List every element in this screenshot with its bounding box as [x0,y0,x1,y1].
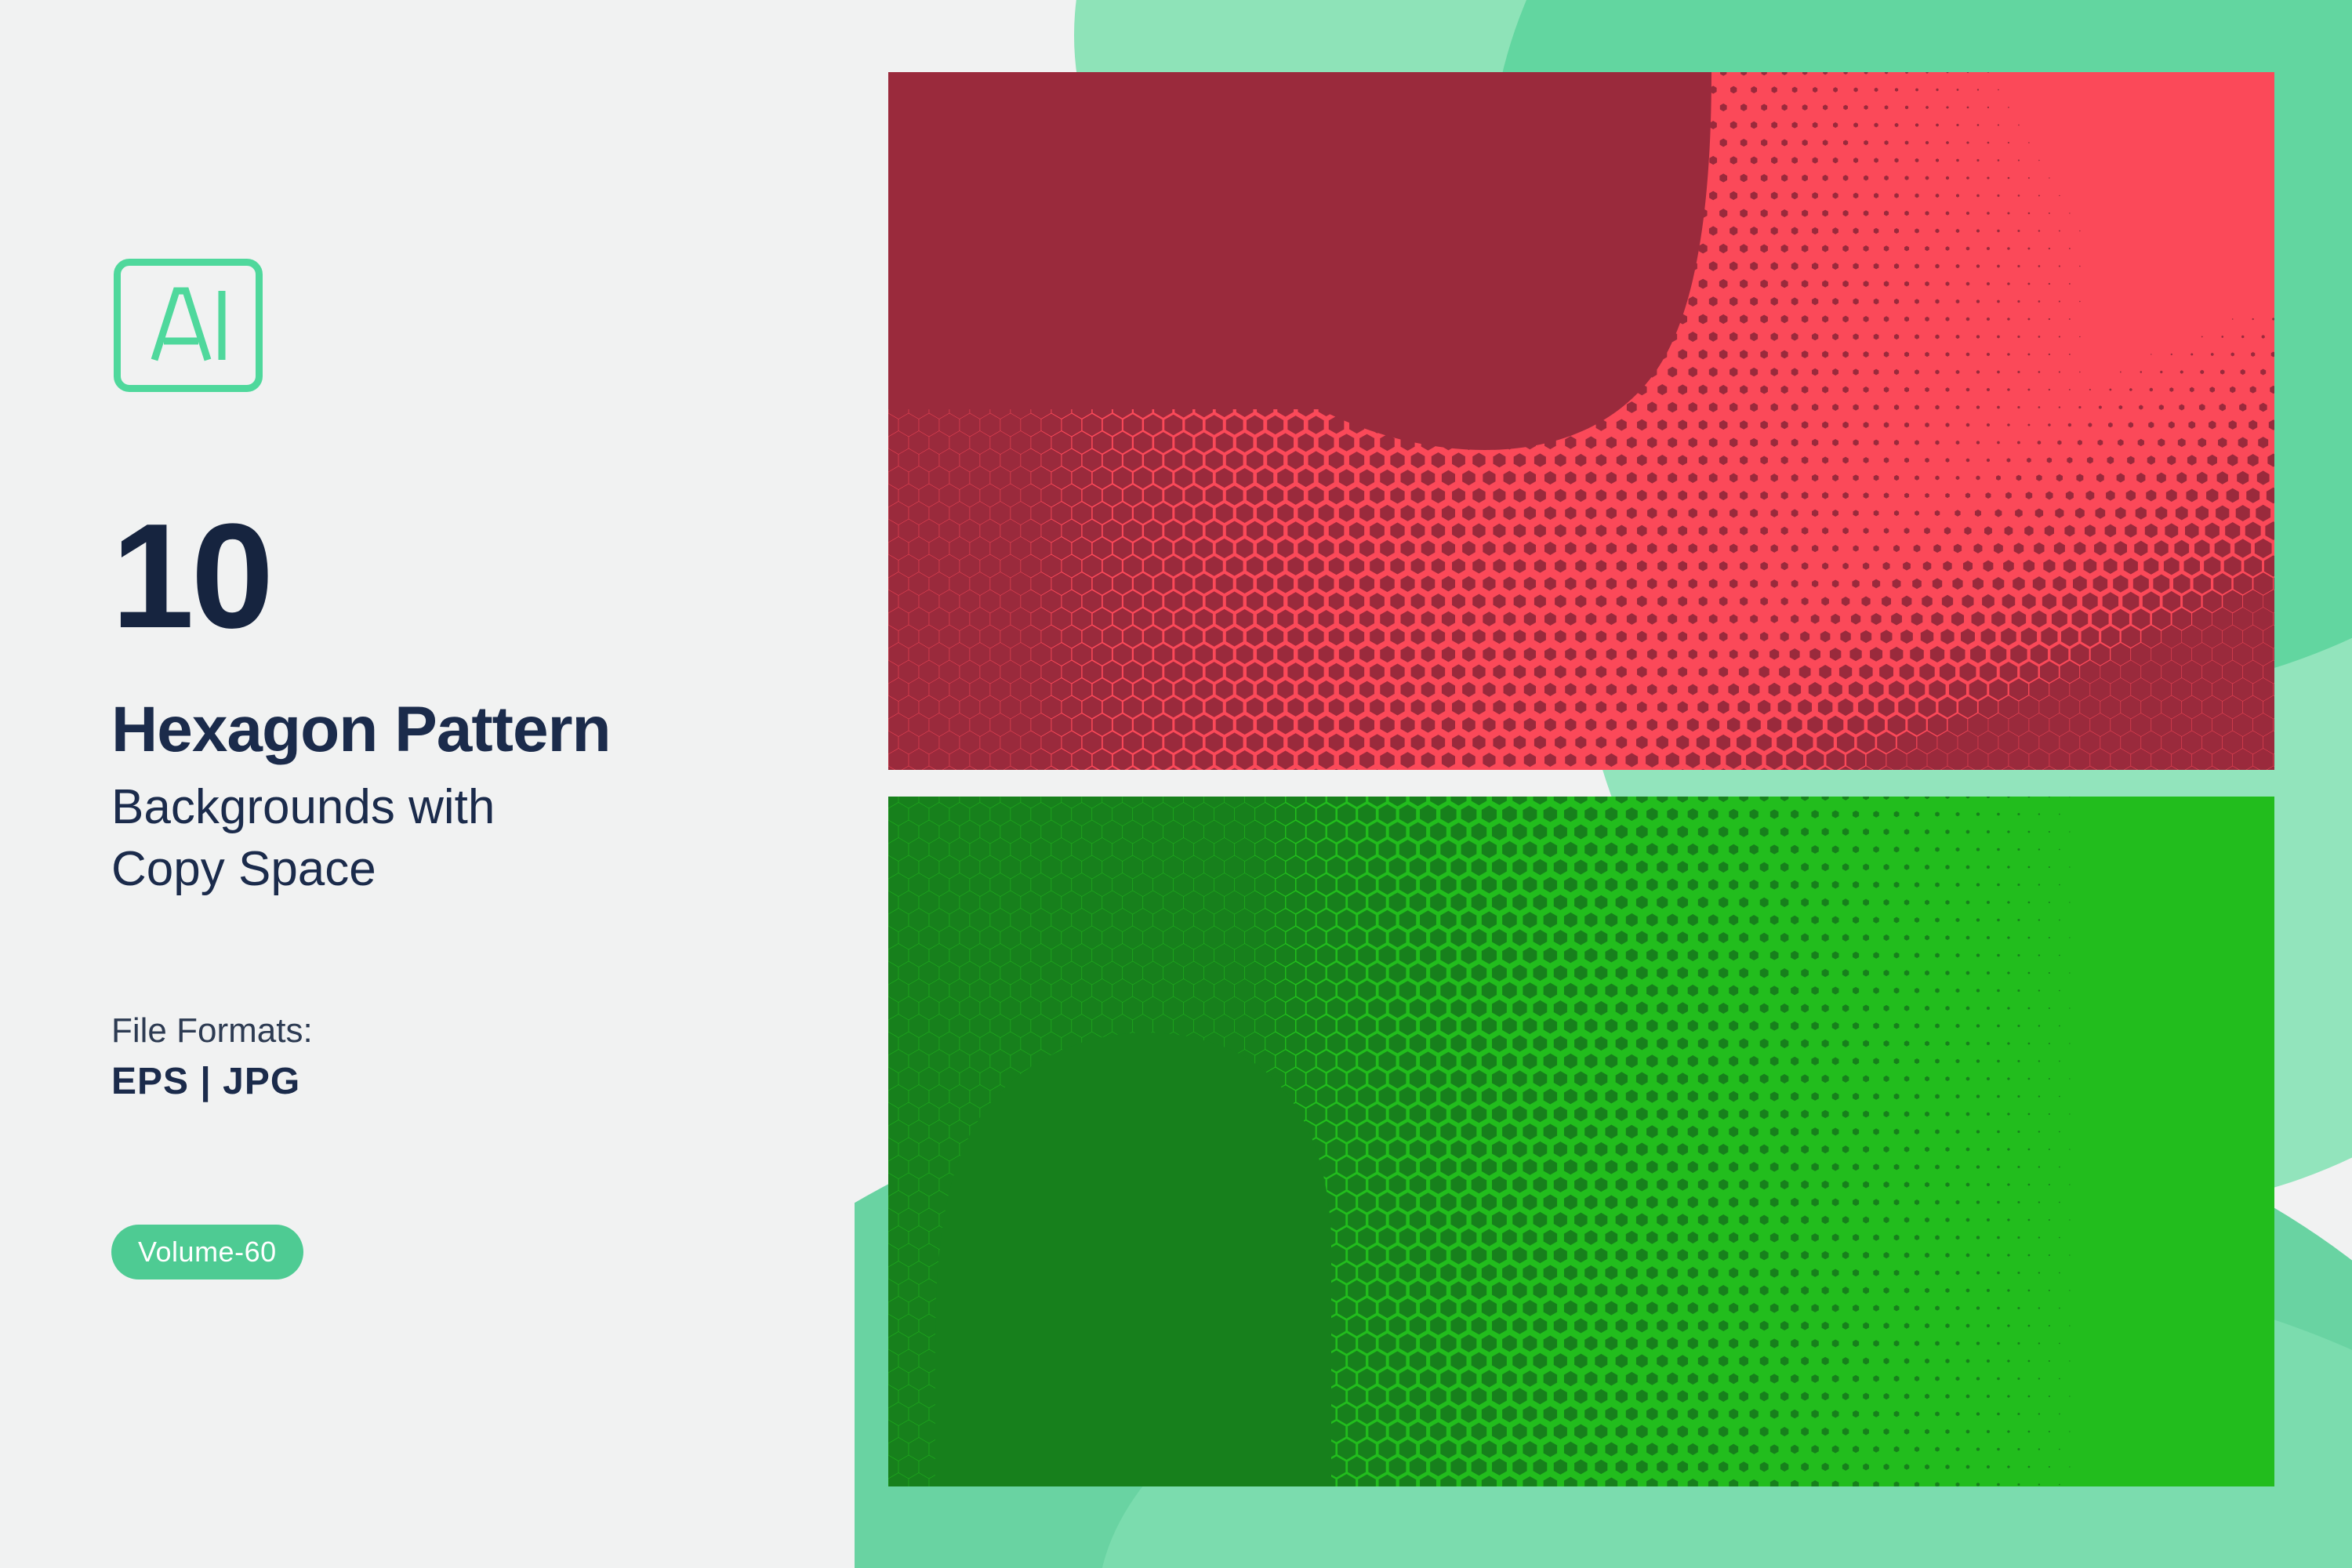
poster-canvas: 10 Hexagon Pattern Backgrounds withCopy … [0,0,2352,1568]
red-hexagon-pattern [888,72,2274,770]
green-hexagon-preview[interactable] [888,797,2274,1486]
file-formats-value: EPS | JPG [111,1060,300,1103]
ai-file-icon [114,259,263,392]
green-hexagon-pattern [888,797,2274,1486]
volume-badge[interactable]: Volume-60 [111,1225,303,1279]
info-column: 10 Hexagon Pattern Backgrounds withCopy … [0,0,855,1568]
green-copy-space [935,1033,1331,1486]
file-formats-label: File Formats: [111,1011,313,1051]
page-subtitle: Backgrounds withCopy Space [111,776,495,901]
volume-badge-label: Volume-60 [138,1236,277,1269]
pack-count: 10 [111,502,270,651]
red-hexagon-preview[interactable] [888,72,2274,770]
page-title: Hexagon Pattern [111,698,611,762]
